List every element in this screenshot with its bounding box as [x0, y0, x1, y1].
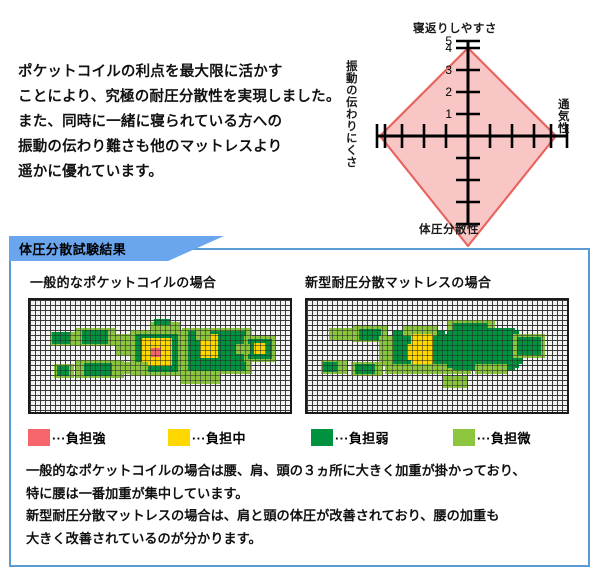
legend-item-burden-medium: ···負担中 [168, 428, 246, 446]
legend-item-burden-slight: ···負担微 [453, 428, 531, 446]
radar-tick-3: 3 [445, 63, 452, 77]
legend-label-burden-strong: ···負担強 [52, 428, 106, 447]
radar-axis-label-left: 振動の伝わりにくさ [344, 60, 356, 168]
intro-line: ことにより、究極の耐圧分散性を実現しました。 [18, 85, 328, 110]
pressure-map-conventional-canvas [30, 300, 290, 412]
radar-tick-1: 1 [445, 107, 452, 121]
radar-chart: 1 2 3 4 5 寝返りしやすさ 通気性 体圧分散性 振動の伝わりにくさ [340, 18, 600, 250]
panel-caption-new: 新型耐圧分散マットレスの場合 [305, 272, 491, 291]
summary-text: 一般的なポケットコイルの場合は腰、肩、頭の３ヵ所に大きく加重が掛かっており、 特… [26, 460, 571, 550]
radar-axis-label-bottom: 体圧分散性 [419, 221, 479, 237]
legend-label-burden-medium: ···負担中 [192, 428, 246, 447]
intro-paragraph: ポケットコイルの利点を最大限に活かす ことにより、究極の耐圧分散性を実現しました… [18, 60, 328, 185]
summary-line: 特に腰は一番加重が集中しています。 [26, 483, 571, 506]
intro-line: また、同時に一緒に寝られている方への [18, 110, 328, 135]
pressure-legend: ···負担強 ···負担中 ···負担弱 ···負担微 [28, 428, 578, 448]
summary-line: 大きく改善されているのが分かります。 [26, 528, 571, 551]
intro-line: ポケットコイルの利点を最大限に活かす [18, 60, 328, 85]
panel-caption-conventional: 一般的なポケットコイルの場合 [30, 272, 216, 291]
summary-line: 新型耐圧分散マットレスの場合は、肩と頭の体圧が改善されており、腰の加重も [26, 505, 571, 528]
legend-item-burden-strong: ···負担強 [28, 428, 106, 446]
top-section: ポケットコイルの利点を最大限に活かす ことにより、究極の耐圧分散性を実現しました… [0, 0, 600, 236]
pressure-map-conventional [28, 298, 292, 414]
legend-label-burden-slight: ···負担微 [477, 428, 531, 447]
radar-axis-label-top: 寝返りしやすさ [413, 20, 497, 36]
summary-line: 一般的なポケットコイルの場合は腰、肩、頭の３ヵ所に大きく加重が掛かっており、 [26, 460, 571, 483]
radar-tick-5: 5 [445, 34, 452, 48]
result-banner-label: 体圧分散試験結果 [19, 239, 126, 258]
legend-item-burden-weak: ···負担弱 [311, 428, 389, 446]
pressure-map-new-canvas [307, 300, 567, 412]
pressure-map-new [305, 298, 569, 414]
radar-tick-2: 2 [445, 85, 452, 99]
legend-swatch-burden-weak [311, 429, 333, 446]
radar-chart-svg: 1 2 3 4 5 [340, 18, 600, 250]
legend-swatch-burden-strong [28, 429, 50, 446]
intro-line: 振動の伝わり難さも他のマットレスより [18, 135, 328, 160]
radar-axis-label-right: 通気性 [556, 98, 568, 134]
intro-line: 遥かに優れています。 [18, 160, 328, 185]
legend-swatch-burden-medium [168, 429, 190, 446]
legend-label-burden-weak: ···負担弱 [335, 428, 389, 447]
legend-swatch-burden-slight [453, 429, 475, 446]
